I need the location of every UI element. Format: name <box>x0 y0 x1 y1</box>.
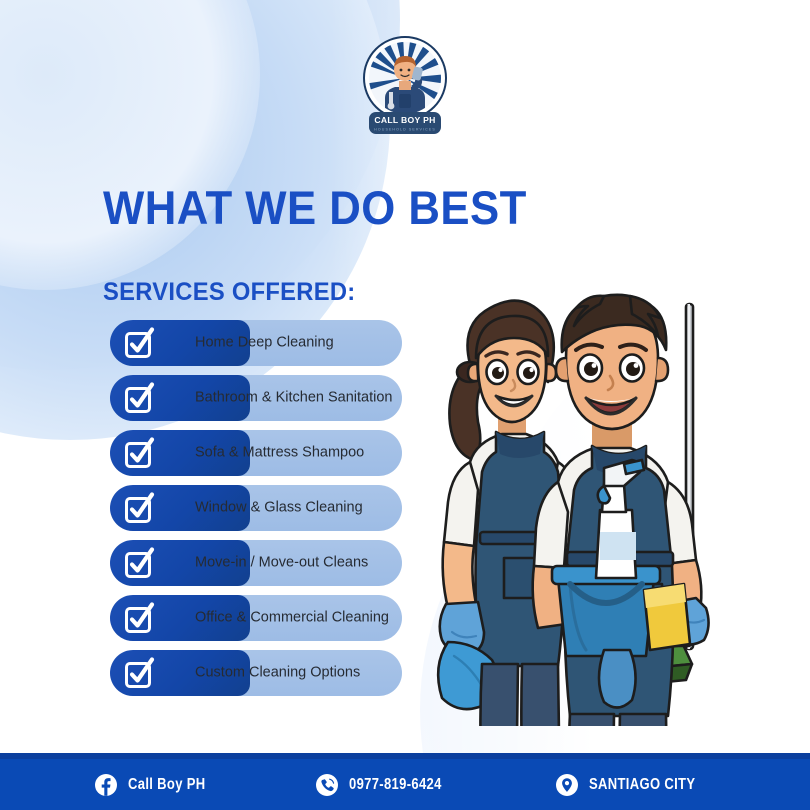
page-title: WHAT WE DO BEST <box>103 184 527 231</box>
footer-location[interactable]: SANTIAGO CITY <box>556 774 716 796</box>
service-label: Sofa & Mattress Shampoo <box>195 445 395 462</box>
footer-phone-text: 0977-819-6424 <box>349 776 442 794</box>
checkbox-checked-icon[interactable] <box>124 602 156 634</box>
services-list: Home Deep Cleaning Bathroom & Kitchen Sa… <box>110 320 402 705</box>
service-item[interactable]: Sofa & Mattress Shampoo <box>110 430 402 476</box>
service-label: Window & Glass Cleaning <box>195 500 395 517</box>
location-pin-icon <box>556 774 578 796</box>
poster-canvas: CALL BOY PH HOUSEHOLD SERVICES WHAT WE D… <box>0 0 810 810</box>
service-label: Custom Cleaning Options <box>195 665 395 682</box>
service-item[interactable]: Office & Commercial Cleaning <box>110 595 402 641</box>
checkbox-checked-icon[interactable] <box>124 547 156 579</box>
footer-phone[interactable]: 0977-819-6424 <box>316 774 459 796</box>
checkbox-checked-icon[interactable] <box>124 492 156 524</box>
service-item[interactable]: Custom Cleaning Options <box>110 650 402 696</box>
service-item[interactable]: Bathroom & Kitchen Sanitation <box>110 375 402 421</box>
service-item[interactable]: Home Deep Cleaning <box>110 320 402 366</box>
service-label: Bathroom & Kitchen Sanitation <box>195 390 395 407</box>
logo-name: CALL BOY PH <box>374 115 435 125</box>
footer-location-text: SANTIAGO CITY <box>589 776 695 794</box>
footer-facebook-text: Call Boy PH <box>128 776 206 794</box>
service-label: Office & Commercial Cleaning <box>195 610 395 627</box>
service-label: Home Deep Cleaning <box>195 335 395 352</box>
logo-tagline: HOUSEHOLD SERVICES <box>374 128 436 132</box>
service-label: Move-in / Move-out Cleans <box>195 555 395 572</box>
checkbox-checked-icon[interactable] <box>124 437 156 469</box>
checkbox-checked-icon[interactable] <box>124 382 156 414</box>
brand-logo: CALL BOY PH HOUSEHOLD SERVICES <box>355 34 455 138</box>
service-item[interactable]: Move-in / Move-out Cleans <box>110 540 402 586</box>
checkbox-checked-icon[interactable] <box>124 657 156 689</box>
section-subtitle: SERVICES OFFERED: <box>103 280 356 305</box>
checkbox-checked-icon[interactable] <box>124 327 156 359</box>
contact-footer: Call Boy PH 0977-819-6424 <box>0 753 810 810</box>
phone-icon <box>316 774 338 796</box>
service-item[interactable]: Window & Glass Cleaning <box>110 485 402 531</box>
footer-facebook[interactable]: Call Boy PH <box>95 774 220 796</box>
cleaners-illustration <box>418 246 748 726</box>
facebook-icon <box>95 774 117 796</box>
